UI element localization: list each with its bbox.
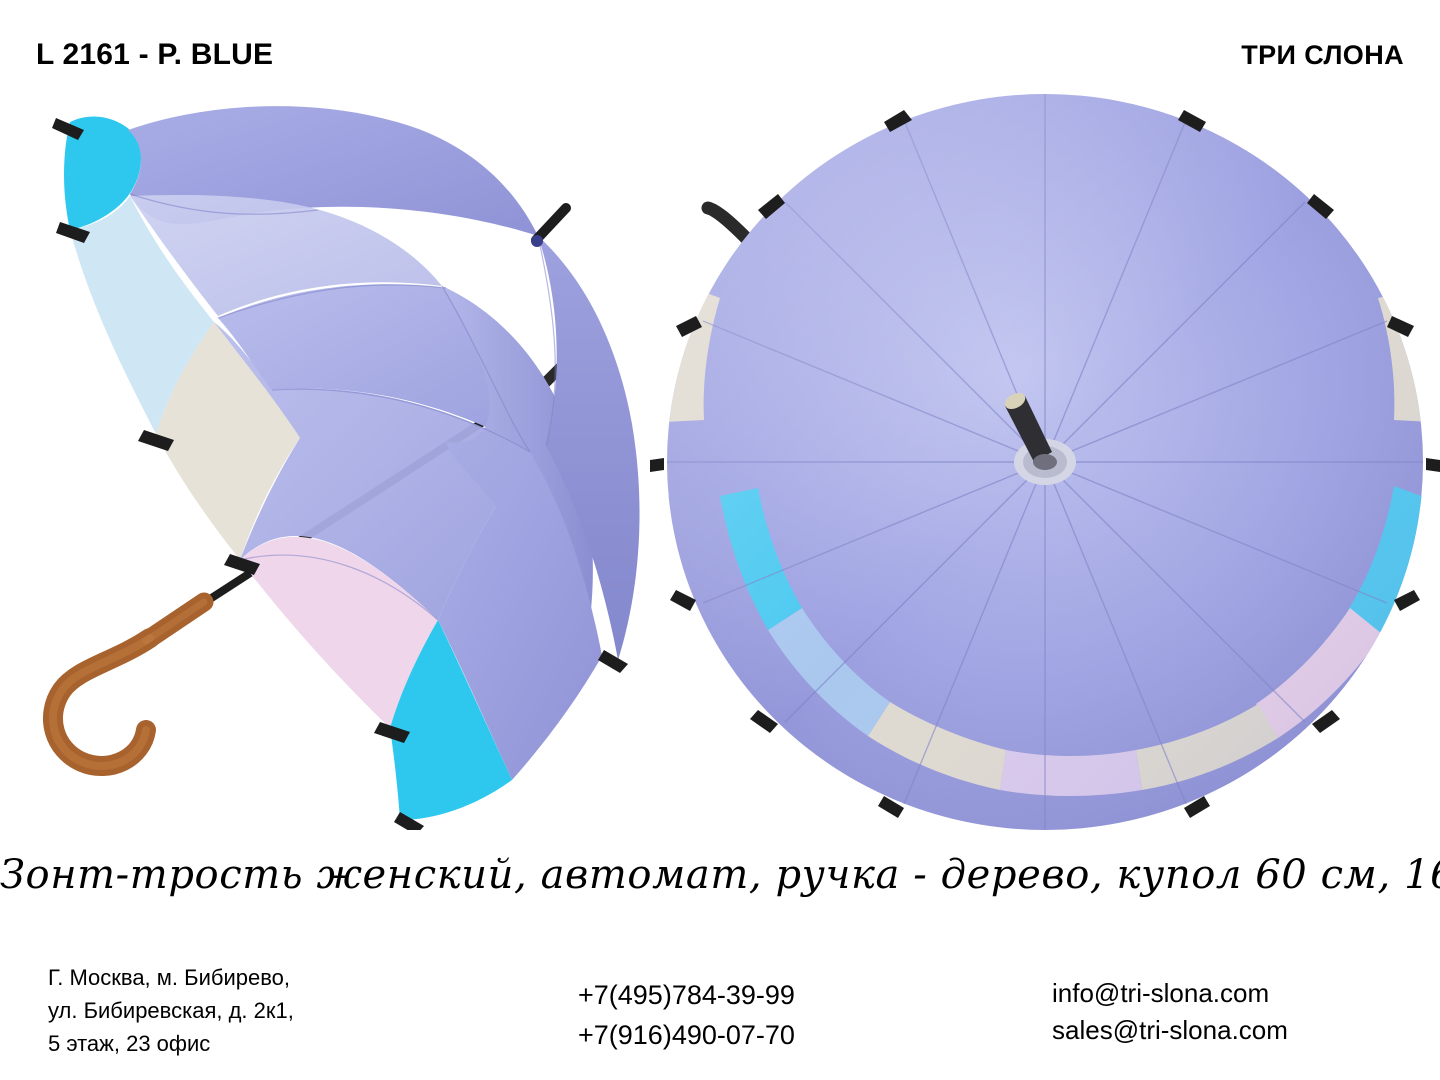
address-line: ул. Бибиревская, д. 2к1, [48, 994, 294, 1027]
phone-number[interactable]: +7(916)490-07-70 [578, 1015, 795, 1055]
page-footer: Г. Москва, м. Бибирево, ул. Бибиревская,… [0, 955, 1440, 1070]
umbrella-canopy-side [64, 106, 640, 820]
handle-behind-canopy [708, 208, 746, 238]
email-address[interactable]: sales@tri-slona.com [1052, 1012, 1288, 1049]
product-sku-title: L 2161 - P. BLUE [36, 38, 273, 72]
footer-email-block: info@tri-slona.com sales@tri-slona.com [1052, 975, 1288, 1049]
email-address[interactable]: info@tri-slona.com [1052, 975, 1288, 1012]
address-line: Г. Москва, м. Бибирево, [48, 961, 294, 994]
phone-number[interactable]: +7(495)784-39-99 [578, 975, 795, 1015]
product-image-stage [0, 78, 1440, 838]
brand-name: ТРИ СЛОНА [1241, 40, 1404, 71]
canopy-finial [531, 208, 566, 247]
umbrella-side-view [18, 90, 678, 830]
address-line: 5 этаж, 23 офис [48, 1027, 294, 1060]
umbrella-top-view [650, 70, 1440, 850]
product-description: Зонт-трость женский, автомат, ручка - де… [0, 852, 1440, 898]
footer-address-block: Г. Москва, м. Бибирево, ул. Бибиревская,… [48, 961, 294, 1060]
footer-phone-block: +7(495)784-39-99 +7(916)490-07-70 [578, 975, 795, 1055]
